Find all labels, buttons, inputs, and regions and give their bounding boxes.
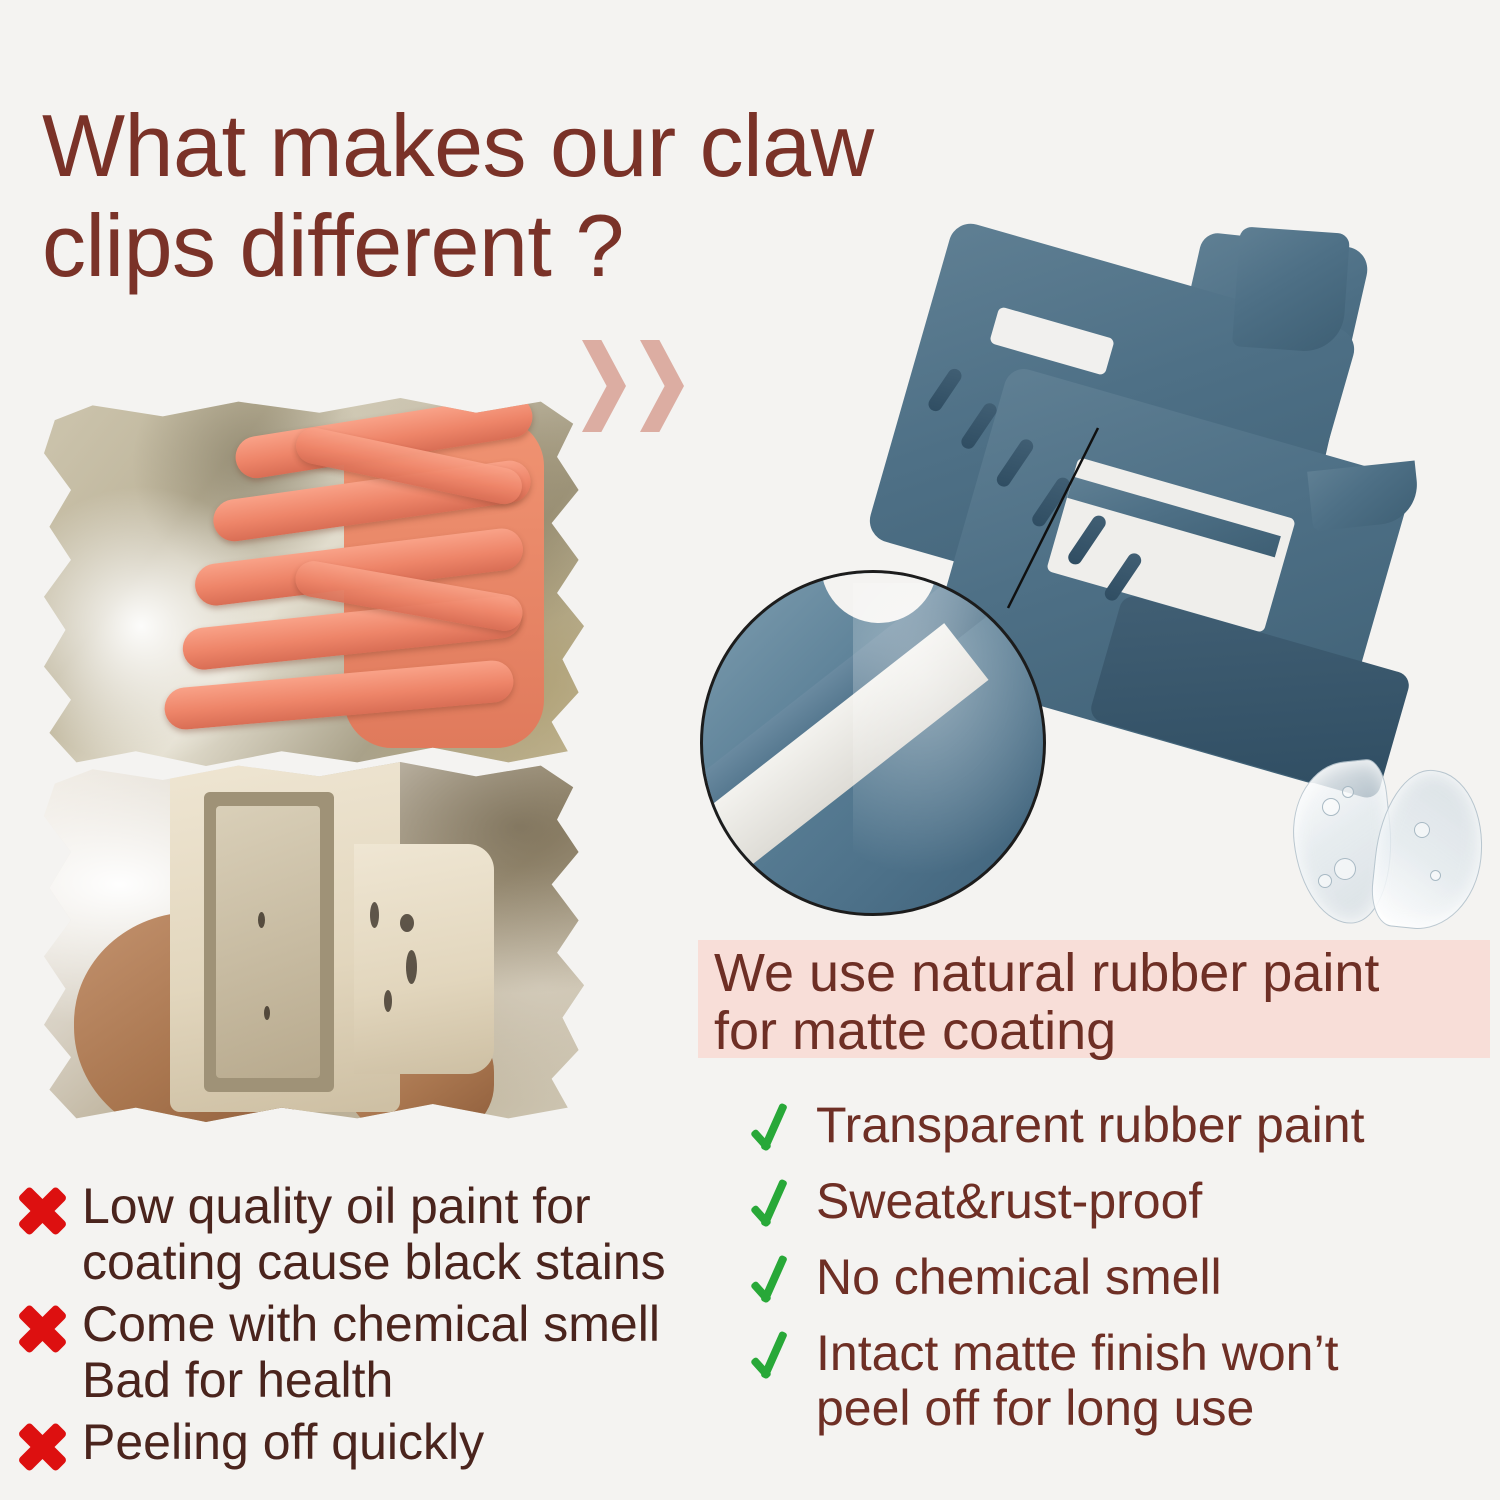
pro-label: Transparent rubber paint: [816, 1098, 1364, 1153]
gel-bubble: [1322, 798, 1340, 816]
clip-hook-tail: [1307, 461, 1421, 532]
check-icon: [752, 1330, 806, 1388]
pros-list: Transparent rubber paint Sweat&rust-proo…: [752, 1098, 1492, 1450]
stain-mark: [370, 902, 379, 928]
cross-icon: [12, 1302, 74, 1358]
con-label: Low quality oil paint for coating cause …: [82, 1178, 666, 1290]
list-item: Peeling off quickly: [12, 1414, 742, 1476]
stain-mark: [384, 990, 392, 1012]
beige-clip-photo: [44, 762, 584, 1122]
check-icon: [752, 1102, 806, 1160]
gel-bubble: [1414, 822, 1430, 838]
double-chevron-right-icon: [582, 340, 722, 432]
cross-icon: [12, 1420, 74, 1476]
clip-wing: [1232, 226, 1350, 353]
cross-icon: [12, 1184, 74, 1240]
list-item: Low quality oil paint for coating cause …: [12, 1178, 742, 1290]
list-item: Sweat&rust-proof: [752, 1174, 1492, 1236]
con-label: Come with chemical smell Bad for health: [82, 1296, 660, 1408]
chevron-right-icon-2: [640, 340, 684, 432]
list-item: Transparent rubber paint: [752, 1098, 1492, 1160]
cons-list: Low quality oil paint for coating cause …: [12, 1178, 742, 1482]
gel-bubble: [1318, 874, 1332, 888]
gel-bubble: [1430, 870, 1441, 881]
gel-swatch: [1288, 752, 1488, 932]
magnifier-circle: [700, 570, 1046, 916]
pro-label: Sweat&rust-proof: [816, 1174, 1202, 1229]
pro-label: No chemical smell: [816, 1250, 1222, 1305]
beige-clip-window-inner: [216, 806, 320, 1078]
pro-label: Intact matte finish won’t peel off for l…: [816, 1326, 1338, 1436]
coral-clip-photo: [44, 398, 584, 766]
stain-mark: [406, 950, 417, 984]
check-icon: [752, 1178, 806, 1236]
beige-clip-arm: [354, 844, 494, 1074]
stain-mark: [400, 914, 414, 932]
highlight-banner-text: We use natural rubber paint for matte co…: [714, 944, 1494, 1061]
gel-bubble: [1342, 786, 1354, 798]
check-icon: [752, 1254, 806, 1312]
con-label: Peeling off quickly: [82, 1414, 484, 1470]
infographic-canvas: What makes our claw clips different ?: [0, 0, 1500, 1500]
list-item: Come with chemical smell Bad for health: [12, 1296, 742, 1408]
magnified-gloss-highlight: [853, 583, 1046, 883]
stain-mark: [258, 912, 265, 928]
stain-mark: [264, 1006, 270, 1020]
chevron-right-icon-1: [582, 340, 626, 432]
list-item: Intact matte finish won’t peel off for l…: [752, 1326, 1492, 1436]
list-item: No chemical smell: [752, 1250, 1492, 1312]
gel-bubble: [1334, 858, 1356, 880]
